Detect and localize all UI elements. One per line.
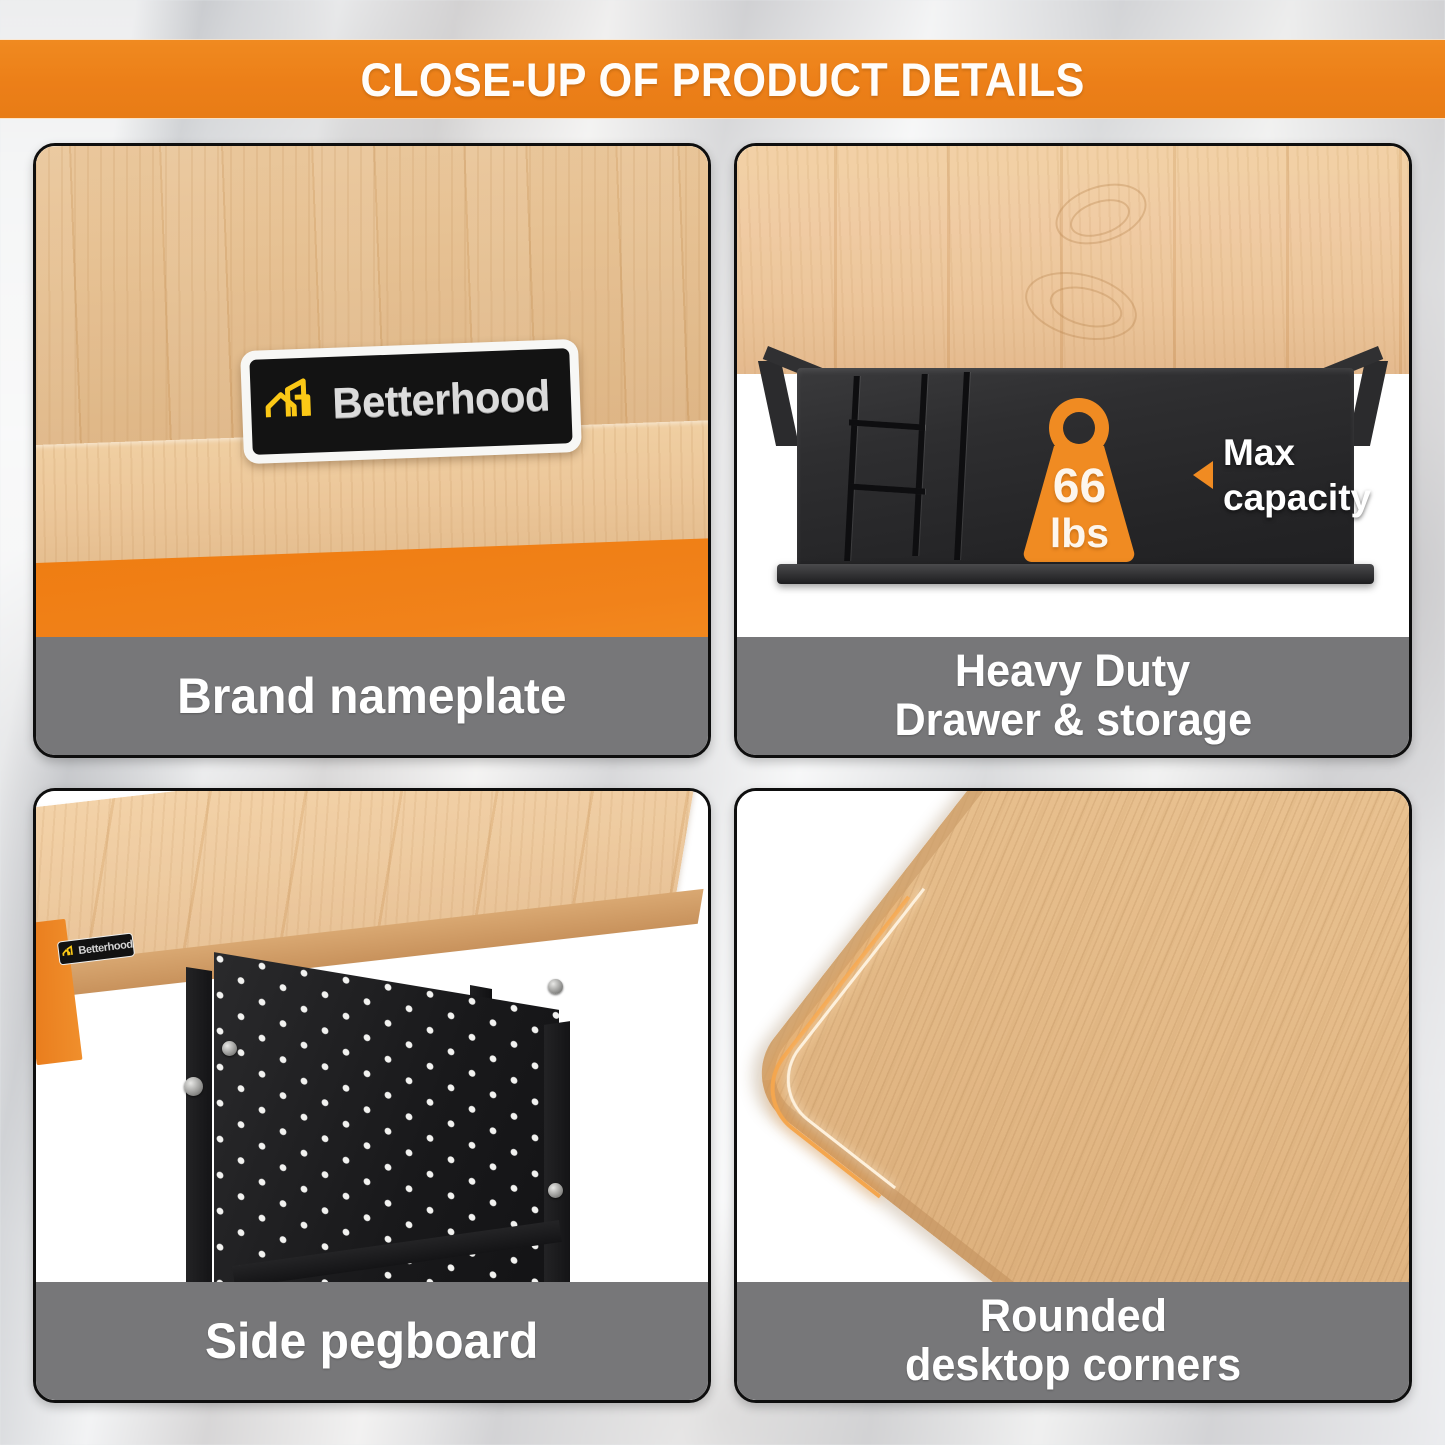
card-caption-rounded-corners: Rounded desktop corners: [737, 1282, 1409, 1400]
bench-leg-front: [186, 967, 212, 1282]
detail-card-brand-nameplate[interactable]: Betterhood Brand nameplate: [33, 143, 711, 758]
brand-nameplate-badge: Betterhood: [240, 339, 582, 464]
detail-card-side-pegboard[interactable]: Betterhood Side pegboard: [33, 788, 711, 1403]
brand-name-text-small: Betterhood: [78, 939, 134, 958]
photo-drawer-storage: 66 lbs Max capacity: [737, 146, 1409, 637]
weight-icon: 66 lbs: [1008, 392, 1151, 562]
caption-line-1: Side pegboard: [205, 1314, 538, 1368]
drawer-divider: [849, 419, 925, 430]
capacity-unit: lbs: [1008, 510, 1151, 557]
photo-brand-nameplate: Betterhood: [36, 146, 708, 637]
capacity-value: 66: [1008, 464, 1151, 510]
house-building-icon: [263, 375, 325, 437]
drawer-front-lip: [777, 564, 1374, 584]
header-banner: CLOSE-UP OF PRODUCT DETAILS: [0, 40, 1445, 118]
left-triangle-icon: [1193, 461, 1213, 489]
photo-rounded-corner: [737, 791, 1409, 1282]
detail-card-heavy-duty-drawer[interactable]: 66 lbs Max capacity Heavy Duty Drawer & …: [734, 143, 1412, 758]
drawer-divider: [844, 376, 860, 561]
card-caption-side-pegboard: Side pegboard: [36, 1282, 708, 1400]
caption-line-2: Drawer & storage: [894, 696, 1252, 745]
screw-icon: [222, 1041, 237, 1056]
max-capacity-label: Max capacity: [1223, 430, 1403, 520]
bolt-icon: [184, 1077, 203, 1096]
screw-icon: [548, 1183, 563, 1198]
house-building-icon: [61, 944, 77, 961]
card-caption-heavy-duty-drawer: Heavy Duty Drawer & storage: [737, 637, 1409, 755]
caption-line-1: Rounded: [979, 1292, 1166, 1341]
photo-side-pegboard: Betterhood: [36, 791, 708, 1282]
bench-top-surface: [737, 146, 1409, 374]
screw-icon: [548, 979, 563, 994]
brand-name-text: Betterhood: [332, 372, 551, 429]
card-caption-brand-nameplate: Brand nameplate: [36, 637, 708, 755]
product-detail-grid: Betterhood Brand nameplate: [33, 143, 1412, 1413]
max-capacity-line-1: Max: [1223, 430, 1403, 475]
detail-card-rounded-corners[interactable]: Rounded desktop corners: [734, 788, 1412, 1403]
drawer-divider: [849, 483, 925, 494]
drawer-divider: [912, 374, 928, 556]
open-drawer: 66 lbs Max capacity: [797, 368, 1354, 573]
caption-line-1: Heavy Duty: [955, 647, 1190, 696]
caption-line-2: desktop corners: [905, 1341, 1241, 1390]
caption-line-1: Brand nameplate: [177, 669, 566, 723]
page-title: CLOSE-UP OF PRODUCT DETAILS: [360, 52, 1084, 107]
max-capacity-line-2: capacity: [1223, 475, 1403, 520]
drawer-divider: [954, 372, 970, 560]
